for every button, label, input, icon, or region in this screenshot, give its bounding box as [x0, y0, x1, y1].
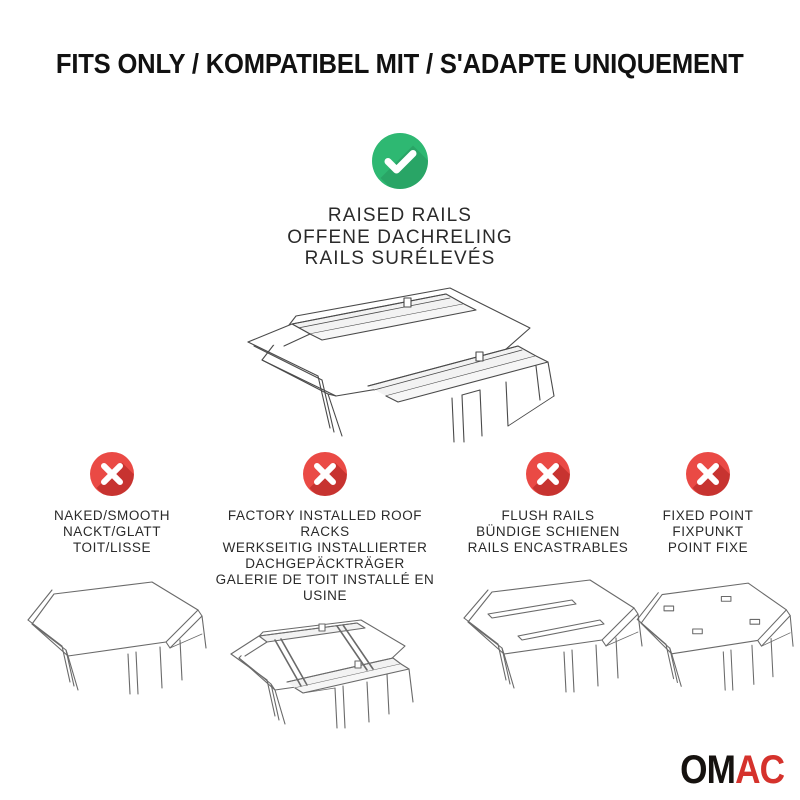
compatible-section: RAISED RAILS OFFENE DACHRELING RAILS SUR… [0, 133, 800, 270]
cross-icon [90, 452, 134, 496]
incompatible-labels-factory-roof-racks: FACTORY INSTALLED ROOF RACKS WERKSEITIG … [205, 508, 445, 604]
car-roof-factory-rack-illustration [205, 612, 445, 772]
label-line-3: RAILS ENCASTRABLES [448, 540, 648, 556]
label-line-3: DACHGEPÄCKTRÄGER [205, 556, 445, 572]
label-line-3: TOIT/LISSE [12, 540, 212, 556]
incompatible-labels-fixed-point: FIXED POINT FIXPUNKT POINT FIXE [622, 508, 794, 556]
incompatible-item-factory-roof-racks: FACTORY INSTALLED ROOF RACKS WERKSEITIG … [205, 452, 445, 772]
label-line-1: NAKED/SMOOTH [12, 508, 212, 524]
cross-icon [686, 452, 730, 496]
omac-logo: OMAC [680, 750, 784, 790]
label-line-1: FACTORY INSTALLED ROOF RACKS [205, 508, 445, 540]
incompatible-item-naked-smooth: NAKED/SMOOTH NACKT/GLATT TOIT/LISSE [12, 452, 212, 730]
label-line-2: NACKT/GLATT [12, 524, 212, 540]
label-line-4: GALERIE DE TOIT INSTALLÉ EN USINE [205, 572, 445, 604]
label-line-3: POINT FIXE [622, 540, 794, 556]
label-line-2: WERKSEITIG INSTALLIERTER [205, 540, 445, 556]
label-line-2: BÜNDIGE SCHIENEN [448, 524, 648, 540]
logo-text-om: OM [680, 748, 735, 792]
compatible-label-en: RAISED RAILS [0, 205, 800, 227]
incompatible-labels-naked-smooth: NAKED/SMOOTH NACKT/GLATT TOIT/LISSE [12, 508, 212, 556]
label-line-1: FLUSH RAILS [448, 508, 648, 524]
label-line-1: FIXED POINT [622, 508, 794, 524]
incompatible-item-flush-rails: FLUSH RAILS BÜNDIGE SCHIENEN RAILS ENCAS… [448, 452, 648, 730]
cross-icon [526, 452, 570, 496]
compatible-label-fr: RAILS SURÉLEVÉS [0, 248, 800, 270]
page-title-bar: FITS ONLY / KOMPATIBEL MIT / S'ADAPTE UN… [0, 48, 800, 80]
page-title: FITS ONLY / KOMPATIBEL MIT / S'ADAPTE UN… [56, 48, 744, 80]
compatible-label-de: OFFENE DACHRELING [0, 227, 800, 249]
label-line-2: FIXPUNKT [622, 524, 794, 540]
car-roof-raised-rails-illustration [218, 276, 582, 446]
car-roof-fixed-point-illustration [622, 570, 794, 730]
car-roof-flush-rails-illustration [448, 570, 648, 730]
cross-icon [303, 452, 347, 496]
compatible-labels: RAISED RAILS OFFENE DACHRELING RAILS SUR… [0, 205, 800, 270]
car-roof-naked-illustration [12, 570, 212, 730]
incompatible-labels-flush-rails: FLUSH RAILS BÜNDIGE SCHIENEN RAILS ENCAS… [448, 508, 648, 556]
logo-text-ac: AC [735, 748, 784, 792]
incompatible-item-fixed-point: FIXED POINT FIXPUNKT POINT FIXE [622, 452, 794, 730]
check-icon [372, 133, 428, 189]
incompatible-section: NAKED/SMOOTH NACKT/GLATT TOIT/LISSE [0, 452, 800, 752]
